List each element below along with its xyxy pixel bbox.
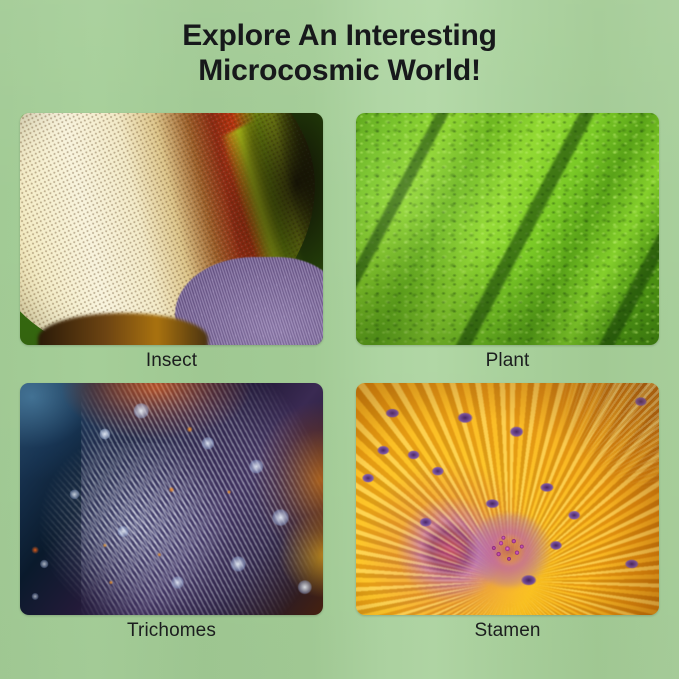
leaf-shading-overlay xyxy=(356,113,659,345)
page-title-line-1: Explore An Interesting xyxy=(182,19,497,52)
caption-trichomes: Trichomes xyxy=(20,619,323,643)
caption-plant: Plant xyxy=(356,349,659,373)
page-title-line-2: Microcosmic World! xyxy=(0,53,679,88)
plant-leaf-image[interactable] xyxy=(356,113,659,345)
gallery-item-plant[interactable]: Plant xyxy=(356,113,659,345)
caption-insect: Insect xyxy=(20,349,323,373)
insect-eye-image[interactable] xyxy=(20,113,323,345)
gallery-item-trichomes[interactable]: Trichomes xyxy=(20,383,323,615)
caption-stamen: Stamen xyxy=(356,619,659,643)
stamen-image[interactable] xyxy=(356,383,659,615)
trichome-amber-droplets xyxy=(20,383,323,615)
gallery-item-insect[interactable]: Insect xyxy=(20,113,323,345)
gallery-item-stamen[interactable]: Stamen xyxy=(356,383,659,615)
image-gallery-grid: Insect Plant Trichomes xyxy=(20,113,659,658)
poster-canvas: Explore An Interesting Microcosmic World… xyxy=(0,0,679,679)
page-title: Explore An Interesting Microcosmic World… xyxy=(0,18,679,88)
trichomes-image[interactable] xyxy=(20,383,323,615)
stamen-vignette xyxy=(356,383,659,615)
